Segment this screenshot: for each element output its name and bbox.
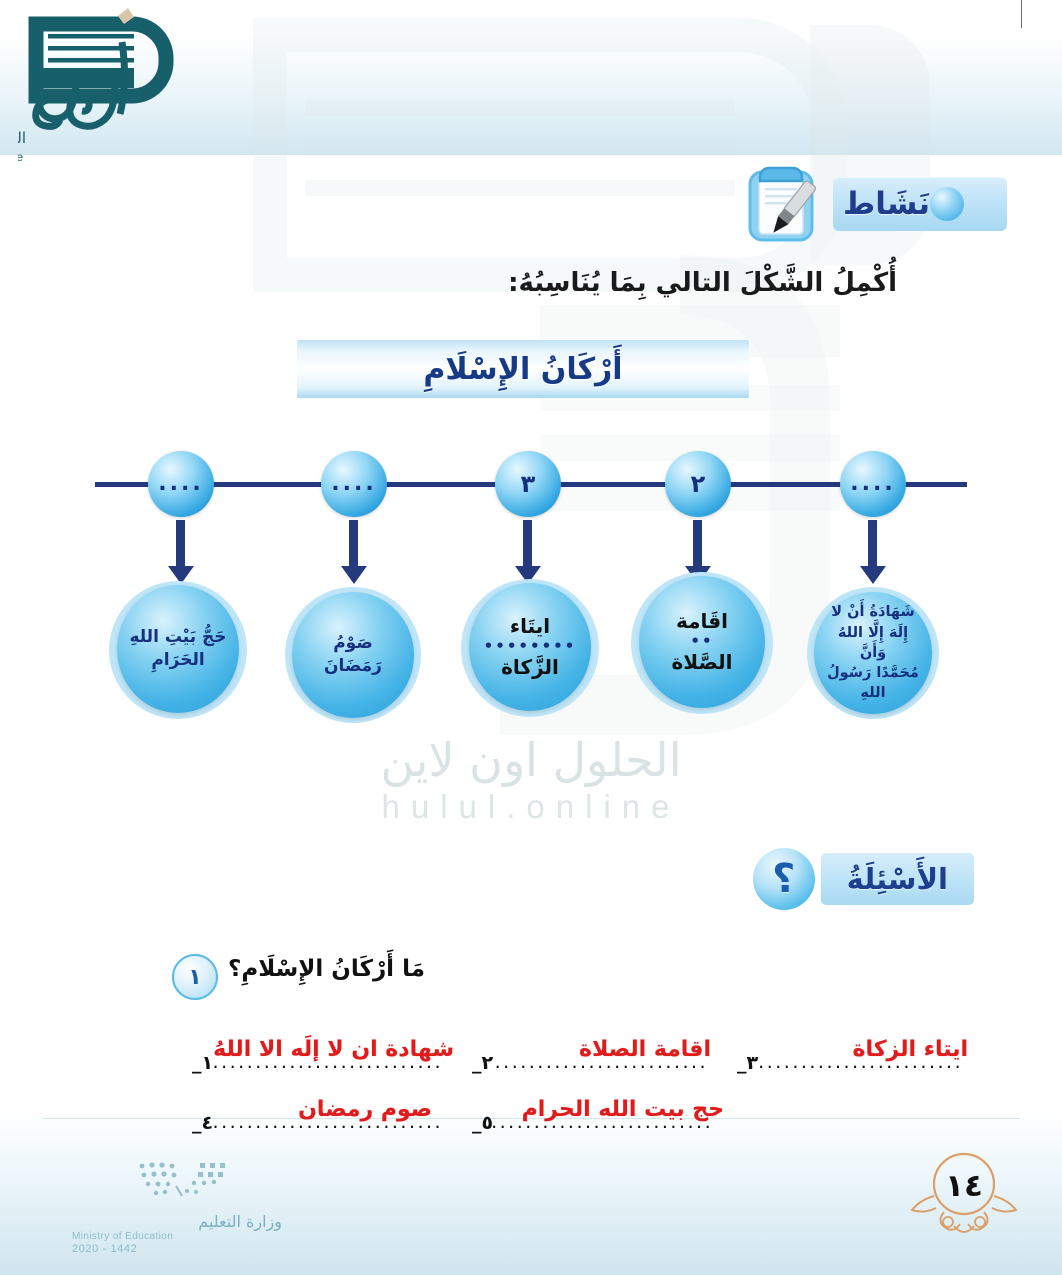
pillars-diagram: .... .... ٣ ٢ ....: [0, 420, 1062, 800]
bubble-hajj-text: حَجُّ بَيْتِ اللهِ الحَرَامِ: [119, 626, 236, 672]
activity-label: نَشَاط: [843, 186, 930, 222]
questions-title-pill: الأَسْئِلَةُ: [821, 853, 974, 905]
answer-slot-5[interactable]: ٥_ .......................... حج بيت الل…: [472, 1112, 742, 1136]
bubble-salah-dots: ••: [671, 635, 732, 649]
answer-2-index: ٢_: [472, 1052, 493, 1076]
bubble-zakah-circle: ايتَاء •••••••• الزَّكاة: [469, 583, 591, 711]
activity-pill: نَشَاط: [833, 177, 1007, 231]
svg-text:hulul.online: hulul.online: [18, 150, 26, 164]
ministry-name-arabic: وزارة التعليم: [72, 1212, 282, 1231]
diagram-node-4[interactable]: ....: [321, 451, 387, 517]
answer-row-1: ١_ ........................... شهادة ان …: [192, 1022, 992, 1076]
arrow-shaft-5: [176, 520, 185, 568]
diagram-node-5-label: ....: [158, 473, 203, 495]
answer-slot-4[interactable]: ٤_ ........................... صوم رمضان: [192, 1112, 472, 1136]
diagram-node-1[interactable]: ....: [840, 451, 906, 517]
bubble-zakah-text: ايتَاء •••••••• الزَّكاة: [474, 613, 587, 681]
bubble-sawm-text: صَوْمُ رَمَضَانَ: [292, 632, 414, 678]
answer-slot-1[interactable]: ١_ ........................... شهادة ان …: [192, 1052, 472, 1076]
question-mark-glyph: ؟: [772, 856, 795, 902]
answer-5-index: ٥_: [472, 1112, 493, 1136]
bubble-zakah-dots: ••••••••: [484, 640, 577, 654]
arrow-shaft-2: [693, 520, 702, 568]
diagram-node-1-label: ....: [850, 473, 895, 495]
arrow-head-4: [341, 566, 367, 584]
diagram-node-2-label: ٢: [691, 472, 706, 496]
bubble-salah[interactable]: اقَامة •• الصَّلاة: [630, 568, 774, 718]
diagram-node-3-label: ٣: [521, 472, 536, 496]
answer-5-written: حج بيت الله الحرام: [522, 1097, 724, 1122]
answer-slot-3[interactable]: ٣_ ........................ ايتاء الزكاة: [737, 1052, 992, 1076]
worksheet-page: الحلول اون لاين hulul.online الحلول اون …: [0, 0, 1062, 1275]
bubble-shahadah-text: شَهَادَةُ أَنْ لا إِلَهَ إِلَّا اللهُ وَ…: [814, 602, 932, 703]
bubble-salah-circle: اقَامة •• الصَّلاة: [639, 576, 765, 708]
bubble-sawm[interactable]: صَوْمُ رَمَضَانَ: [283, 584, 423, 726]
question-mark-badge-icon: ؟: [753, 848, 815, 910]
answer-2-written: اقامة الصلاة: [579, 1037, 711, 1062]
diagram-title: أَرْكَانُ الإِسْلَامِ: [423, 352, 622, 387]
answer-4-written: صوم رمضان: [298, 1097, 432, 1122]
answer-1-index: ١_: [192, 1052, 213, 1076]
bubble-hajj-circle: حَجُّ بَيْتِ اللهِ الحَرَامِ: [117, 585, 239, 713]
answer-row-2: ٤_ ........................... صوم رمضان…: [192, 1082, 992, 1136]
arrow-shaft-1: [868, 520, 877, 568]
diagram-node-5[interactable]: ....: [148, 451, 214, 517]
diagram-title-banner: أَرْكَانُ الإِسْلَامِ: [297, 340, 749, 398]
arrow-shaft-3: [523, 520, 532, 568]
bubble-zakah[interactable]: ايتَاء •••••••• الزَّكاة: [460, 575, 600, 721]
question-1-text: مَا أَرْكَانُ الإِسْلَامِ؟: [228, 952, 425, 982]
bubble-shahadah-circle: شَهَادَةُ أَنْ لا إِلَهَ إِلَّا اللهُ وَ…: [814, 592, 932, 714]
hulul-logo-icon: الحلول اون لاين hulul.online: [18, 6, 228, 171]
bubble-shahadah[interactable]: شَهَادَةُ أَنْ لا إِلَهَ إِلَّا اللهُ وَ…: [806, 584, 940, 722]
page-number-ornament: ١٤: [904, 1150, 1024, 1245]
questions-title: الأَسْئِلَةُ: [847, 862, 948, 896]
diagram-node-3[interactable]: ٣: [495, 451, 561, 517]
diagram-node-2[interactable]: ٢: [665, 451, 731, 517]
activity-instruction: أُكْمِلُ الشَّكْلَ التالي بِمَا يُنَاسِب…: [508, 268, 897, 298]
ministry-year: 2020 - 1442: [72, 1243, 282, 1255]
clipboard-pen-icon: [739, 160, 825, 248]
bubble-hajj[interactable]: حَجُّ بَيْتِ اللهِ الحَرَامِ: [108, 577, 248, 723]
diagram-node-4-label: ....: [331, 473, 376, 495]
arrow-head-1: [860, 566, 886, 584]
activity-bullet-icon: [930, 187, 964, 221]
ministry-logo: وزارة التعليم Ministry of Education 2020…: [72, 1160, 282, 1255]
svg-text:الحلول اون لاين: الحلول اون لاين: [18, 129, 26, 147]
question-1-number: ١: [188, 965, 201, 990]
answer-lines: ١_ ........................... شهادة ان …: [192, 988, 992, 1136]
ministry-emblem-icon: [132, 1160, 282, 1206]
bubble-sawm-circle: صَوْمُ رَمَضَانَ: [292, 592, 414, 718]
page-number: ١٤: [904, 1168, 1024, 1204]
questions-header: ؟ الأَسْئِلَةُ: [753, 848, 974, 910]
ministry-name-english: Ministry of Education: [72, 1231, 282, 1242]
answer-4-index: ٤_: [192, 1112, 213, 1136]
answer-slot-2[interactable]: ٢_ ......................... اقامة الصلا…: [472, 1052, 737, 1076]
bubble-salah-text: اقَامة •• الصَّلاة: [661, 608, 742, 676]
activity-header: نَشَاط: [739, 160, 1007, 248]
answer-1-written: شهادة ان لا إلَه الا اللهُ: [213, 1037, 454, 1062]
answer-3-written: ايتاء الزكاة: [853, 1037, 968, 1062]
answer-3-index: ٣_: [737, 1052, 758, 1076]
top-crop-mark: [1021, 0, 1022, 28]
arrow-shaft-4: [349, 520, 358, 568]
